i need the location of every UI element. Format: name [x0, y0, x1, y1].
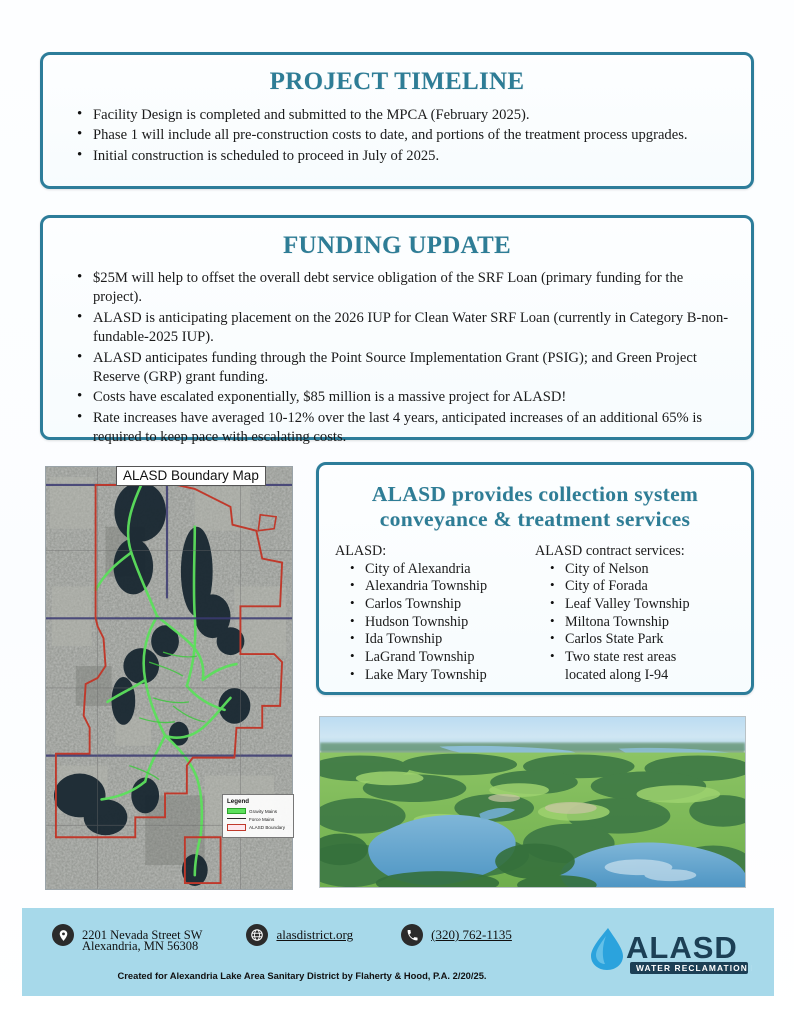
list-item: Costs have escalated exponentially, $85 …: [71, 388, 735, 407]
legend-row-force-mains: Force Mains: [227, 817, 289, 822]
list-item: $25M will help to offset the overall deb…: [71, 269, 735, 308]
page-canvas: PROJECT TIMELINE Facility Design is comp…: [0, 0, 794, 1024]
aerial-photo-graphic: [320, 717, 745, 887]
list-item: Carlos Township: [347, 596, 535, 614]
services-title: ALASD provides collection system conveya…: [333, 482, 737, 532]
list-item: Ida Township: [347, 631, 535, 649]
funding-update-list: $25M will help to offset the overall deb…: [71, 269, 735, 448]
services-left-list: City of Alexandria Alexandria Township C…: [347, 561, 535, 684]
alasd-logo-graphic: ALASD WATER RECLAMATION FACILITY: [582, 924, 752, 978]
services-left-heading: ALASD:: [335, 543, 535, 560]
project-timeline-title: PROJECT TIMELINE: [43, 68, 751, 96]
legend-label: ALASD Boundary: [249, 825, 285, 830]
phone-icon: [401, 924, 423, 946]
aerial-lake-photo: [319, 716, 746, 888]
services-box: ALASD provides collection system conveya…: [316, 462, 754, 695]
list-item: ALASD is anticipating placement on the 2…: [71, 309, 735, 348]
list-item: LaGrand Township: [347, 649, 535, 667]
list-item: Rate increases have averaged 10-12% over…: [71, 409, 735, 448]
funding-update-title: FUNDING UPDATE: [43, 232, 751, 260]
address-line-2: Alexandria, MN 56308: [82, 939, 198, 954]
project-timeline-box: PROJECT TIMELINE Facility Design is comp…: [40, 52, 754, 189]
legend-label: Force Mains: [249, 817, 274, 822]
contact-website[interactable]: alasdistrict.org: [246, 924, 353, 946]
list-item: Hudson Township: [347, 614, 535, 632]
footer-contact-bar: 2201 Nevada Street SW alasdistrict.org: [22, 908, 774, 996]
services-column-alasd: ALASD: City of Alexandria Alexandria Tow…: [335, 543, 535, 684]
list-item-line2: located along I-94: [565, 667, 743, 685]
svg-text:ALASD: ALASD: [626, 930, 738, 965]
list-item: Facility Design is completed and submitt…: [71, 106, 729, 125]
list-item: City of Forada: [547, 578, 743, 596]
alasd-boundary-swatch-icon: [227, 824, 246, 831]
list-item: Miltona Township: [547, 614, 743, 632]
list-item: Two state rest areas located along I-94: [547, 649, 743, 684]
force-mains-swatch-icon: [227, 818, 246, 820]
legend-row-gravity-mains: Gravity Mains: [227, 808, 289, 814]
website-link[interactable]: alasdistrict.org: [276, 927, 353, 943]
location-pin-icon: [52, 924, 74, 946]
list-item: Carlos State Park: [547, 631, 743, 649]
phone-number-link[interactable]: (320) 762-1135: [431, 927, 512, 943]
legend-row-alasd-boundary: ALASD Boundary: [227, 824, 289, 831]
list-item: ALASD anticipates funding through the Po…: [71, 349, 735, 388]
gravity-mains-swatch-icon: [227, 808, 246, 814]
svg-text:WATER RECLAMATION FACILITY: WATER RECLAMATION FACILITY: [636, 963, 752, 973]
legend-label: Gravity Mains: [249, 809, 277, 814]
list-item: City of Nelson: [547, 561, 743, 579]
services-columns: ALASD: City of Alexandria Alexandria Tow…: [335, 543, 743, 684]
globe-icon: [246, 924, 268, 946]
services-right-list: City of Nelson City of Forada Leaf Valle…: [547, 561, 743, 684]
list-item-line1: Two state rest areas: [565, 649, 676, 665]
credit-line: Created for Alexandria Lake Area Sanitar…: [22, 970, 582, 981]
funding-update-box: FUNDING UPDATE $25M will help to offset …: [40, 215, 754, 440]
contact-phone[interactable]: (320) 762-1135: [401, 924, 512, 946]
list-item: Phase 1 will include all pre-constructio…: [71, 126, 729, 145]
map-legend: Legend Gravity Mains Force Mains ALASD B…: [222, 794, 294, 838]
list-item: Initial construction is scheduled to pro…: [71, 147, 729, 166]
map-caption: ALASD Boundary Map: [116, 466, 266, 486]
alasd-logo: ALASD WATER RECLAMATION FACILITY: [582, 924, 752, 978]
services-right-heading: ALASD contract services:: [535, 543, 743, 560]
services-column-contract: ALASD contract services: City of Nelson …: [535, 543, 743, 684]
list-item: Alexandria Township: [347, 578, 535, 596]
legend-title: Legend: [227, 798, 289, 805]
list-item: City of Alexandria: [347, 561, 535, 579]
project-timeline-list: Facility Design is completed and submitt…: [71, 106, 729, 166]
list-item: Lake Mary Township: [347, 667, 535, 685]
list-item: Leaf Valley Township: [547, 596, 743, 614]
